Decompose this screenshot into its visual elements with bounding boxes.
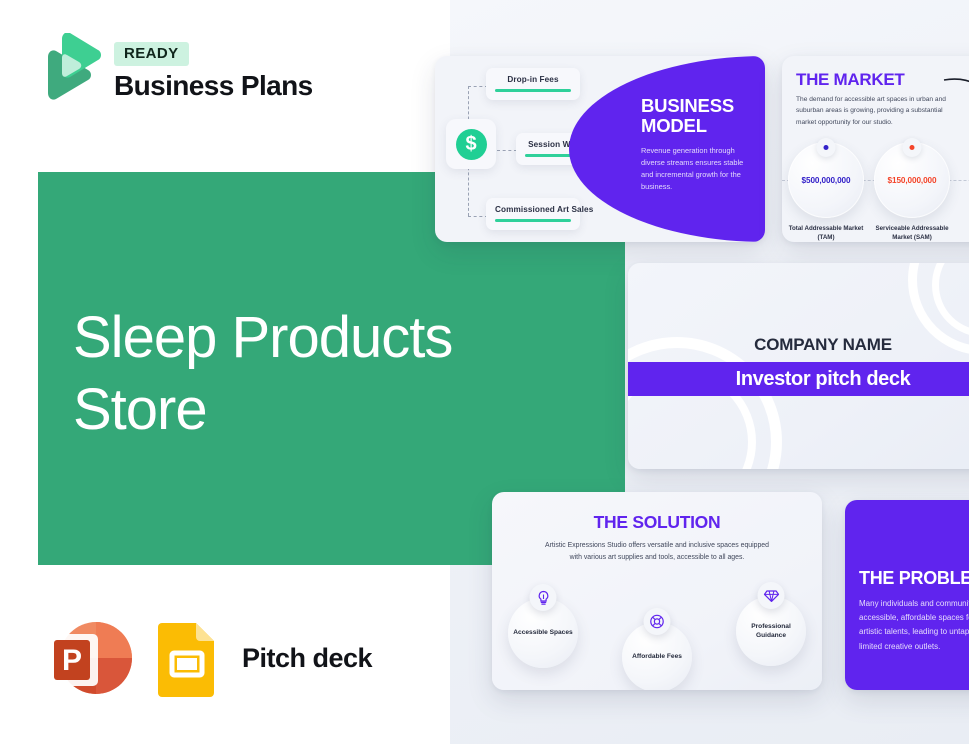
metric-sam[interactable]: $150,000,000 Serviceable Addressable Mar… [874, 142, 950, 242]
ready-badge: READY [114, 42, 189, 66]
pitch-deck-headline-bar: Investor pitch deck [628, 362, 969, 396]
slide-business-model[interactable]: Drop-in Fees Session Workshops Commissio… [435, 56, 765, 242]
node-underline [495, 89, 571, 92]
slide-body: Many individuals and communities lack ac… [859, 597, 969, 654]
page-title: Sleep Products Store [73, 302, 543, 446]
node-label: Drop-in Fees [495, 75, 571, 84]
node-commissioned-art-sales[interactable]: Commissioned Art Sales [486, 198, 580, 230]
slide-body: Revenue generation through diverse strea… [641, 145, 753, 193]
metric-value: $150,000,000 [888, 176, 937, 185]
svg-text:P: P [62, 644, 82, 677]
metric-caption: Serviceable Addressable Market (SAM) [874, 225, 950, 242]
solution-items: Accessible Spaces Affordable Fees [508, 588, 806, 684]
diamond-icon [758, 582, 785, 609]
metric-value: $500,000,000 [802, 176, 851, 185]
brand-name: Business Plans [114, 70, 313, 102]
brand-text: READY Business Plans [114, 42, 313, 102]
node-underline [495, 219, 571, 222]
solution-item-professional-guidance[interactable]: Professional Guidance [736, 596, 806, 666]
slide-body: The demand for accessible art spaces in … [796, 94, 951, 128]
curved-arrow-icon [942, 76, 969, 116]
dot-icon [910, 145, 915, 150]
slide-the-solution[interactable]: THE SOLUTION Artistic Expressions Studio… [492, 492, 822, 690]
slide-title: BUSINESS MODEL [641, 96, 753, 137]
slide-title: THE SOLUTION [492, 512, 822, 533]
lightbulb-icon [530, 584, 557, 611]
solution-item-affordable-fees[interactable]: Affordable Fees [622, 622, 692, 690]
slide-title: THE MARKET [796, 70, 904, 90]
target-icon [644, 608, 671, 635]
metric-caption: Total Addressable Market (TAM) [788, 225, 864, 242]
metric-dot-badge [903, 138, 922, 157]
google-slides-icon [156, 619, 218, 697]
slide-title: THE PROBLEM [859, 568, 969, 589]
market-metrics: $500,000,000 Total Addressable Market (T… [788, 142, 950, 242]
solution-item-accessible-spaces[interactable]: Accessible Spaces [508, 598, 578, 668]
slide-body: Artistic Expressions Studio offers versa… [542, 540, 772, 565]
metric-dot-badge [817, 138, 836, 157]
slide-the-market[interactable]: THE MARKET The demand for accessible art… [782, 56, 969, 242]
powerpoint-icon: P [40, 614, 132, 702]
pitch-deck-headline: Investor pitch deck [736, 368, 911, 391]
connector-mid [497, 150, 517, 151]
dollar-icon: $ [446, 119, 496, 169]
node-label: Commissioned Art Sales [495, 205, 571, 214]
node-drop-in-fees[interactable]: Drop-in Fees [486, 68, 580, 100]
slide-investor-pitch-deck[interactable]: COMPANY NAME Investor pitch deck [628, 263, 969, 469]
slide-the-problem[interactable]: THE PROBLEM Many individuals and communi… [845, 500, 969, 690]
play-triangle-logo-icon [38, 33, 101, 111]
format-label: Pitch deck [242, 643, 372, 674]
connector-top [468, 86, 488, 87]
dot-icon [824, 145, 829, 150]
connector-bottom [468, 216, 488, 217]
metric-tam[interactable]: $500,000,000 Total Addressable Market (T… [788, 142, 864, 242]
poster-canvas: READY Business Plans Sleep Products Stor… [0, 0, 969, 744]
company-name: COMPANY NAME [628, 335, 969, 355]
brand-logo-block: READY Business Plans [38, 33, 313, 111]
format-row: P Pitch deck [40, 614, 372, 702]
